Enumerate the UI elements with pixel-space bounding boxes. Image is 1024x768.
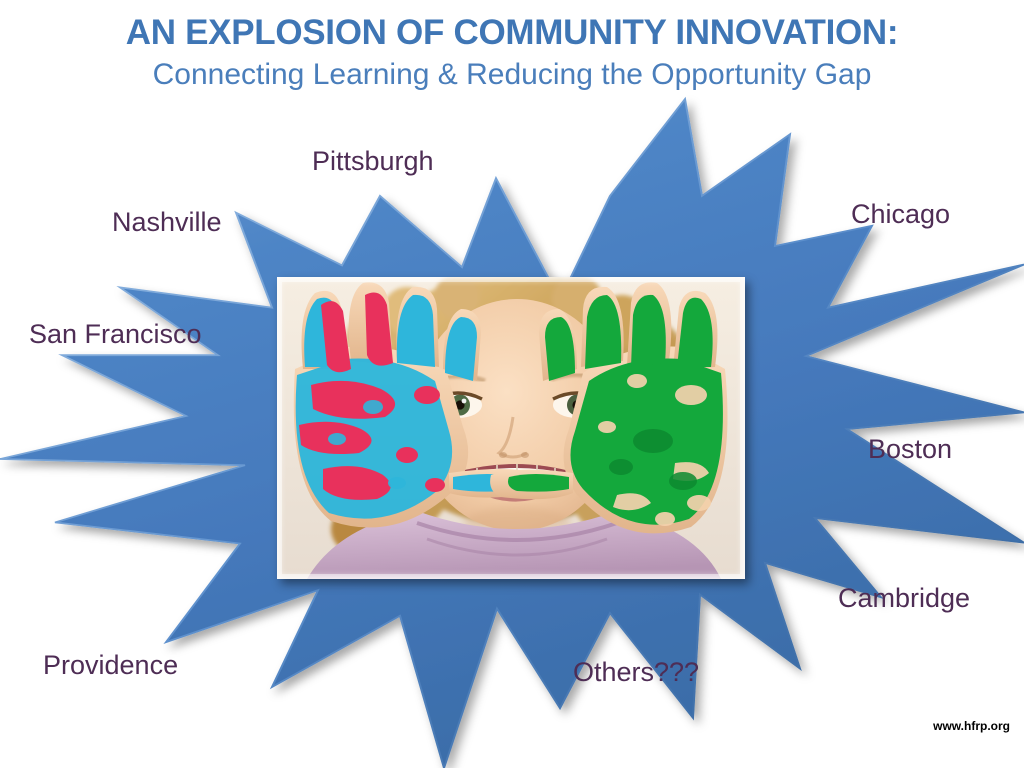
city-label-others: Others??? (573, 657, 699, 688)
title-block: AN EXPLOSION OF COMMUNITY INNOVATION: Co… (0, 14, 1024, 91)
child-painted-hands-photo (277, 277, 745, 579)
city-label-providence: Providence (43, 650, 178, 681)
city-label-boston: Boston (868, 434, 952, 465)
page-title: AN EXPLOSION OF COMMUNITY INNOVATION: (0, 14, 1024, 52)
city-label-chicago: Chicago (851, 199, 950, 230)
slide-canvas: AN EXPLOSION OF COMMUNITY INNOVATION: Co… (0, 0, 1024, 768)
footer-website-url: www.hfrp.org (933, 719, 1010, 733)
city-label-nashville: Nashville (112, 207, 222, 238)
city-label-pittsburgh: Pittsburgh (312, 146, 434, 177)
photo-illustration (277, 277, 745, 579)
page-subtitle: Connecting Learning & Reducing the Oppor… (0, 58, 1024, 91)
city-label-san-francisco: San Francisco (29, 319, 202, 350)
city-label-cambridge: Cambridge (838, 583, 970, 614)
